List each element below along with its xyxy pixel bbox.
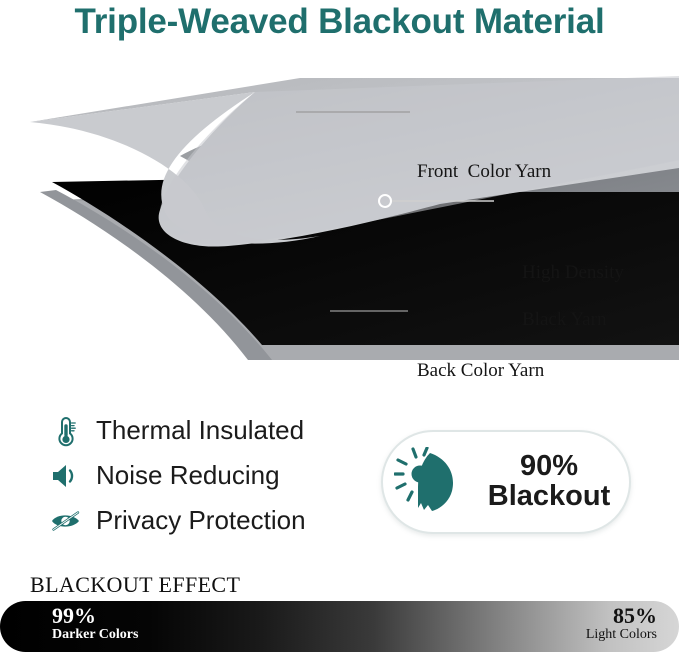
label-high-density-line1: High Density xyxy=(522,262,624,283)
label-front-color-yarn: Front Color Yarn xyxy=(417,160,551,183)
badge-text: 90% Blackout xyxy=(475,452,629,511)
blackout-effect-heading: BLACKOUT EFFECT xyxy=(30,572,240,598)
thermometer-icon xyxy=(46,412,86,450)
fabric-layers-diagram: Front Color Yarn High Density Black Yarn… xyxy=(0,60,679,360)
label-back-color-yarn: Back Color Yarn xyxy=(417,359,544,382)
feature-label-noise-reducing: Noise Reducing xyxy=(96,460,280,491)
gradient-bar-left-percent: 99% xyxy=(52,604,138,627)
gradient-bar-right-stat: 85% Light Colors xyxy=(586,604,657,643)
feature-thermal-insulated: Thermal Insulated xyxy=(46,408,366,453)
feature-label-thermal-insulated: Thermal Insulated xyxy=(96,415,304,446)
label-high-density-black-yarn: High Density Black Yarn xyxy=(503,238,624,354)
speaker-sound-icon xyxy=(46,457,86,495)
eye-off-icon xyxy=(46,502,86,540)
gradient-bar-right-caption: Light Colors xyxy=(586,628,657,643)
badge-word: Blackout xyxy=(475,482,623,512)
blackout-percentage-badge: 90% Blackout xyxy=(381,430,631,534)
page-title: Triple-Weaved Blackout Material xyxy=(0,2,679,42)
sun-behind-curtain-icon xyxy=(389,447,475,517)
label-high-density-line2: Black Yarn xyxy=(522,309,606,330)
gradient-bar-left-caption: Darker Colors xyxy=(52,628,138,643)
features-list: Thermal Insulated Noise Reducing Privacy… xyxy=(46,408,366,543)
feature-privacy-protection: Privacy Protection xyxy=(46,498,366,543)
feature-noise-reducing: Noise Reducing xyxy=(46,453,366,498)
badge-percent: 90% xyxy=(475,452,623,482)
gradient-bar-left-stat: 99% Darker Colors xyxy=(52,604,138,643)
feature-label-privacy-protection: Privacy Protection xyxy=(96,505,306,536)
gradient-bar-right-percent: 85% xyxy=(586,604,657,627)
